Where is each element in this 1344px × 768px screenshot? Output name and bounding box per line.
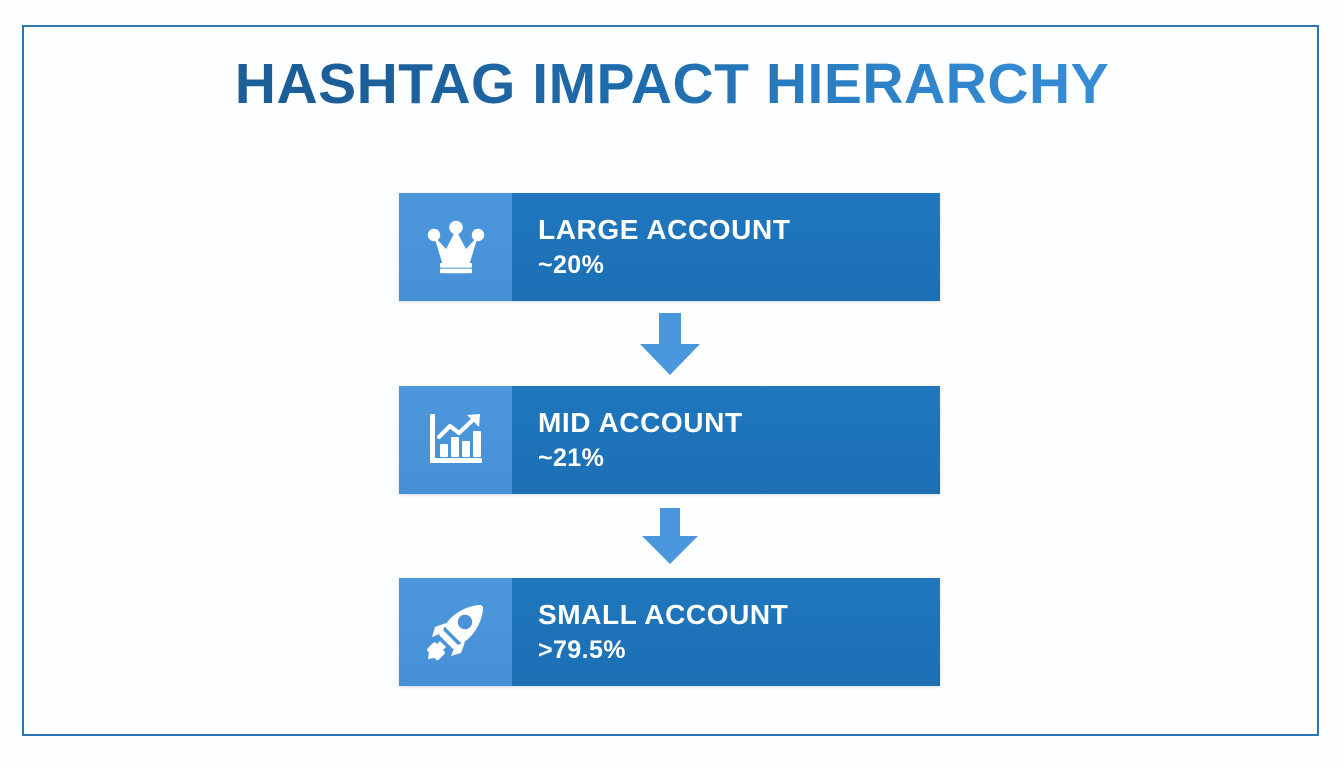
icon-panel-mid-account (399, 386, 512, 494)
hierarchy-row-mid-account[interactable]: MID ACCOUNT ~21% (399, 386, 940, 494)
card-body-large-account: LARGE ACCOUNT ~20% (512, 193, 940, 301)
crown-icon (426, 219, 486, 275)
icon-panel-small-account (399, 578, 512, 686)
icon-panel-large-account (399, 193, 512, 301)
arrow-container-1 (399, 301, 940, 386)
slide-canvas: HASHTAG IMPACT HIERARCHY (0, 0, 1344, 768)
bar-chart-trend-icon (426, 411, 486, 469)
page-title: HASHTAG IMPACT HIERARCHY (0, 55, 1344, 115)
hierarchy-stack: LARGE ACCOUNT ~20% (399, 193, 940, 686)
row-label-large-account: LARGE ACCOUNT (538, 214, 940, 246)
card-body-small-account: SMALL ACCOUNT >79.5% (512, 578, 940, 686)
arrow-down-icon (636, 506, 704, 566)
row-label-mid-account: MID ACCOUNT (538, 407, 940, 439)
hierarchy-row-large-account[interactable]: LARGE ACCOUNT ~20% (399, 193, 940, 301)
row-value-large-account: ~20% (538, 250, 940, 280)
card-body-mid-account: MID ACCOUNT ~21% (512, 386, 940, 494)
row-value-small-account: >79.5% (538, 635, 940, 665)
arrow-down-icon (634, 311, 706, 377)
row-label-small-account: SMALL ACCOUNT (538, 599, 940, 631)
hierarchy-row-small-account[interactable]: SMALL ACCOUNT >79.5% (399, 578, 940, 686)
row-value-mid-account: ~21% (538, 443, 940, 473)
rocket-icon (424, 601, 488, 663)
arrow-container-2 (399, 494, 940, 578)
